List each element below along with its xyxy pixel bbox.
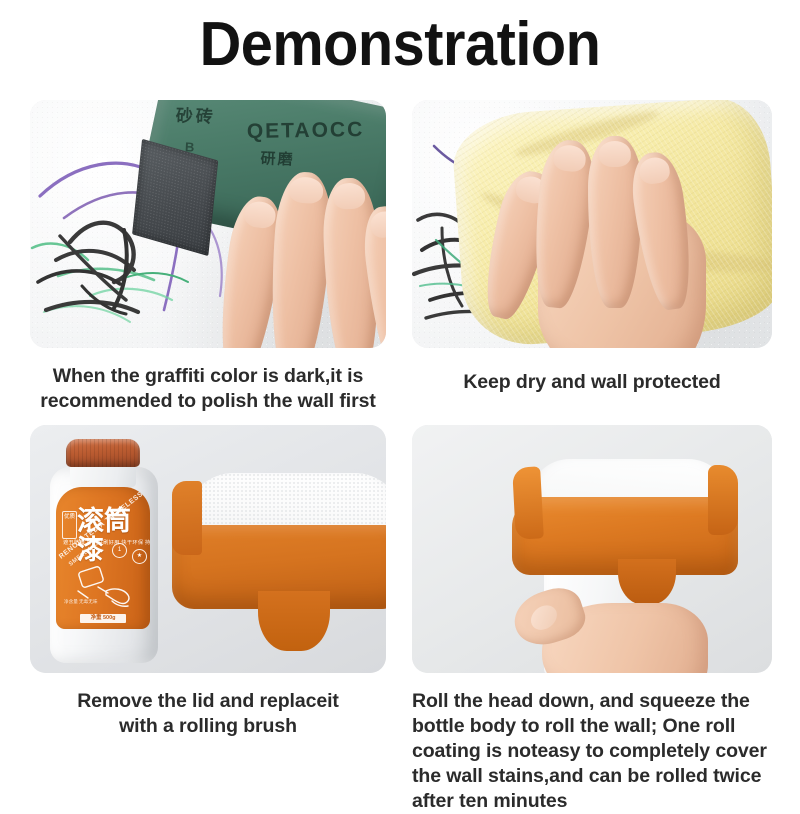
caption-line: Keep dry and wall protected (412, 370, 772, 395)
roller-brush-head (172, 473, 386, 663)
step-card-4: Roll the head down, and squeeze the bott… (412, 425, 772, 814)
hand (508, 585, 714, 673)
label-badge: 优质 (62, 511, 77, 539)
step-3-caption: Remove the lid and replaceit with a roll… (30, 673, 386, 739)
page-title: Demonstration (28, 12, 772, 78)
certification-icon: 1 (112, 543, 127, 558)
step-card-2: Keep dry and wall protected (412, 100, 772, 395)
caption-line: Roll the head down, and squeeze the (412, 689, 772, 714)
fingernail (243, 200, 278, 230)
caption-line: When the graffiti color is dark,it is (30, 364, 386, 389)
caption-line: with a rolling brush (30, 714, 386, 739)
roller-arm-left (512, 466, 544, 539)
step-card-3: 优质 滚筒漆 遮丑防霉 好刷好刷好用 快干环保 持久防潮 RENOVATED A… (30, 425, 386, 739)
hand (208, 144, 386, 348)
paint-bottle: 优质 滚筒漆 遮丑防霉 好刷好刷好用 快干环保 持久防潮 RENOVATED A… (50, 439, 158, 663)
caption-line: bottle body to roll the wall; One roll (412, 714, 772, 739)
hand (490, 126, 726, 348)
sanding-block-text-1: QETAOCC (247, 118, 365, 144)
step-2-photo (412, 100, 772, 348)
step-1-photo: QETAOCC 砂砖 研磨 B (30, 100, 386, 348)
label-footnote: 净含量 无毒无味 (64, 599, 142, 605)
fingernail (332, 182, 365, 209)
caption-line: coating is noteasy to completely cover (412, 739, 772, 764)
label-net-weight: 净重 500g (80, 614, 126, 623)
step-4-photo (412, 425, 772, 673)
fingernail (288, 176, 323, 204)
roller-arm-right (708, 465, 738, 535)
caption-line: recommended to polish the wall first (30, 389, 386, 414)
caption-line: the wall stains,and can be rolled twice (412, 764, 772, 789)
bottle-label: 优质 滚筒漆 遮丑防霉 好刷好刷好用 快干环保 持久防潮 RENOVATED A… (56, 487, 150, 629)
fingernail (638, 156, 671, 186)
roller-arm (172, 481, 202, 555)
sanding-block-text-2: 砂砖 (175, 101, 216, 127)
fingernail (552, 144, 587, 173)
bottle-cap (66, 439, 140, 467)
caption-line: after ten minutes (412, 789, 772, 814)
thumbnail (526, 600, 562, 635)
step-card-1: QETAOCC 砂砖 研磨 B When the graffiti color … (30, 100, 386, 414)
step-3-photo: 优质 滚筒漆 遮丑防霉 好刷好刷好用 快干环保 持久防潮 RENOVATED A… (30, 425, 386, 673)
step-4-caption: Roll the head down, and squeeze the bott… (412, 673, 772, 814)
fingernail (599, 141, 631, 167)
step-2-caption: Keep dry and wall protected (412, 348, 772, 395)
demonstration-infographic: Demonstration (0, 0, 800, 800)
step-1-caption: When the graffiti color is dark,it is re… (30, 348, 386, 414)
caption-line: Remove the lid and replaceit (30, 689, 386, 714)
certification-icon: ★ (132, 549, 147, 564)
roller-connector (258, 591, 330, 651)
fingernail (369, 210, 386, 239)
